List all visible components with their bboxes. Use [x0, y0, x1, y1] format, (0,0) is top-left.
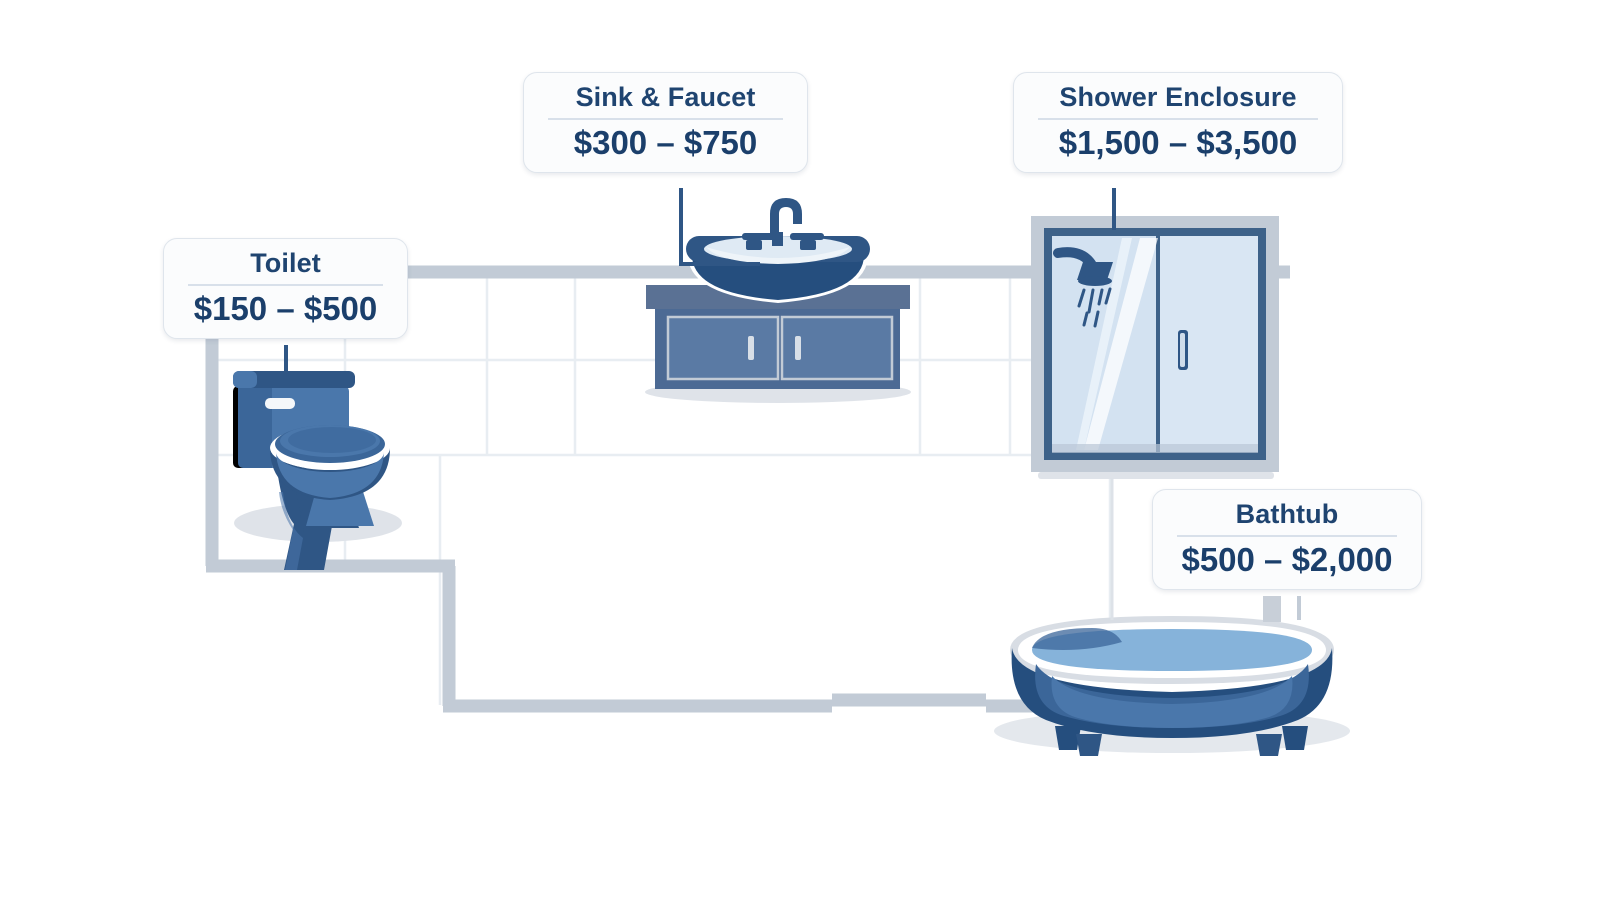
callout-divider: [548, 118, 783, 120]
callout-divider: [1177, 535, 1397, 537]
callout-shower[interactable]: Shower Enclosure $1,500 – $3,500: [1013, 72, 1343, 173]
callout-toilet-price: $150 – $500: [186, 292, 385, 327]
callout-bathtub[interactable]: Bathtub $500 – $2,000: [1152, 489, 1422, 590]
callout-divider: [1038, 118, 1318, 120]
callout-toilet[interactable]: Toilet $150 – $500: [163, 238, 408, 339]
callout-toilet-title: Toilet: [186, 249, 385, 277]
callout-shower-price: $1,500 – $3,500: [1036, 126, 1320, 161]
callout-bathtub-title: Bathtub: [1175, 500, 1399, 528]
callout-sink-price: $300 – $750: [546, 126, 785, 161]
sink-vanity-illustration: [645, 198, 911, 403]
callout-bathtub-price: $500 – $2,000: [1175, 543, 1399, 578]
callout-sink-title: Sink & Faucet: [546, 83, 785, 111]
shower-enclosure-illustration: [1031, 216, 1279, 479]
infographic-canvas: Toilet $150 – $500 Sink & Faucet $300 – …: [0, 0, 1600, 900]
toilet-illustration: [233, 371, 402, 570]
callout-sink[interactable]: Sink & Faucet $300 – $750: [523, 72, 808, 173]
leader-tub-post: [1263, 596, 1281, 622]
callout-divider: [188, 284, 383, 286]
bathtub-illustration: [994, 616, 1350, 756]
callout-shower-title: Shower Enclosure: [1036, 83, 1320, 111]
